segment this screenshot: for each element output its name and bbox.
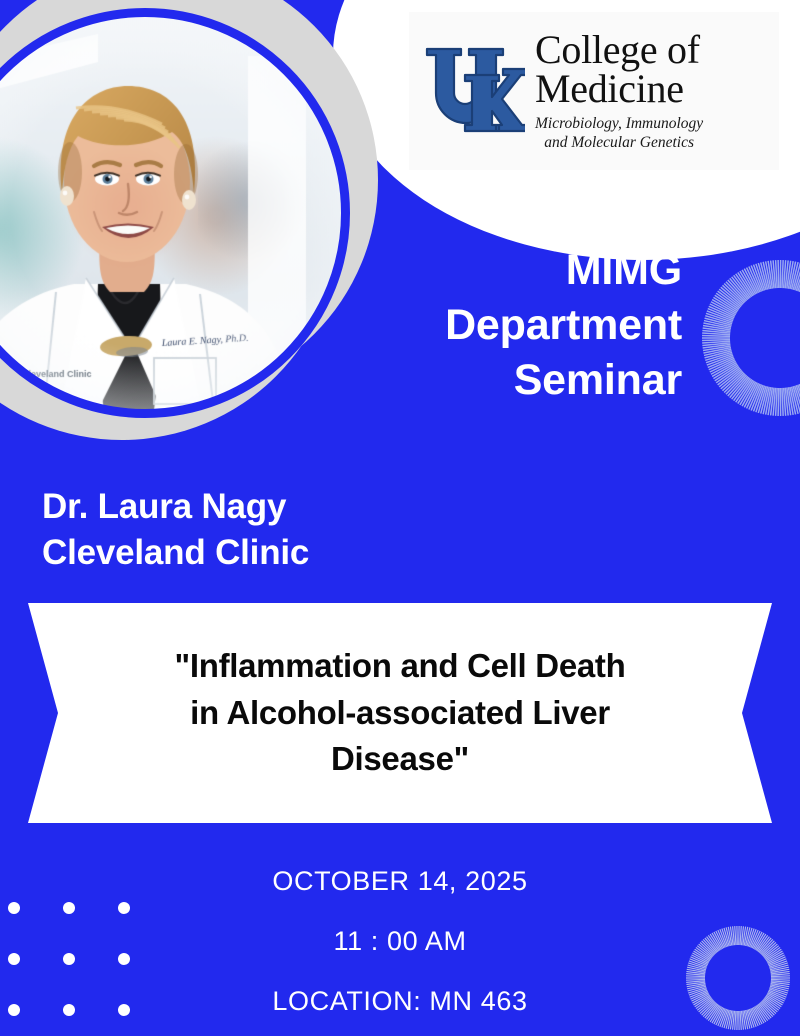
event-location: LOCATION: MN 463 xyxy=(0,986,800,1017)
logo-department-line2: and Molecular Genetics xyxy=(535,134,703,152)
seminar-heading-line3: Seminar xyxy=(342,353,682,408)
seminar-heading-line2: Department xyxy=(342,298,682,353)
logo-medicine-line: Medicine xyxy=(535,69,703,108)
logo-department-line1: Microbiology, Immunology xyxy=(535,115,703,133)
event-date: OCTOBER 14, 2025 xyxy=(0,866,800,897)
uk-monogram-icon xyxy=(419,41,525,141)
uk-college-of-medicine-logo: College of Medicine Microbiology, Immuno… xyxy=(409,12,779,170)
seminar-poster: College of Medicine Microbiology, Immuno… xyxy=(0,0,800,1036)
speaker-name: Dr. Laura Nagy xyxy=(42,484,309,530)
logo-college-line: College of xyxy=(535,30,703,69)
seminar-heading: MIMG Department Seminar xyxy=(342,243,682,408)
event-details: OCTOBER 14, 2025 11 : 00 AM LOCATION: MN… xyxy=(0,866,800,1017)
speaker-affiliation: Cleveland Clinic xyxy=(42,530,309,576)
talk-title-banner: "Inflammation and Cell Death in Alcohol-… xyxy=(0,597,800,829)
speaker-block: Dr. Laura Nagy Cleveland Clinic xyxy=(42,484,309,576)
seminar-heading-line1: MIMG xyxy=(342,243,682,298)
talk-title-line2: in Alcohol-associated Liver xyxy=(190,690,610,737)
talk-title-line1: "Inflammation and Cell Death xyxy=(175,643,626,690)
sunburst-ring-right-icon xyxy=(700,258,800,418)
talk-title-line3: Disease" xyxy=(331,736,469,783)
event-time: 11 : 00 AM xyxy=(0,926,800,957)
